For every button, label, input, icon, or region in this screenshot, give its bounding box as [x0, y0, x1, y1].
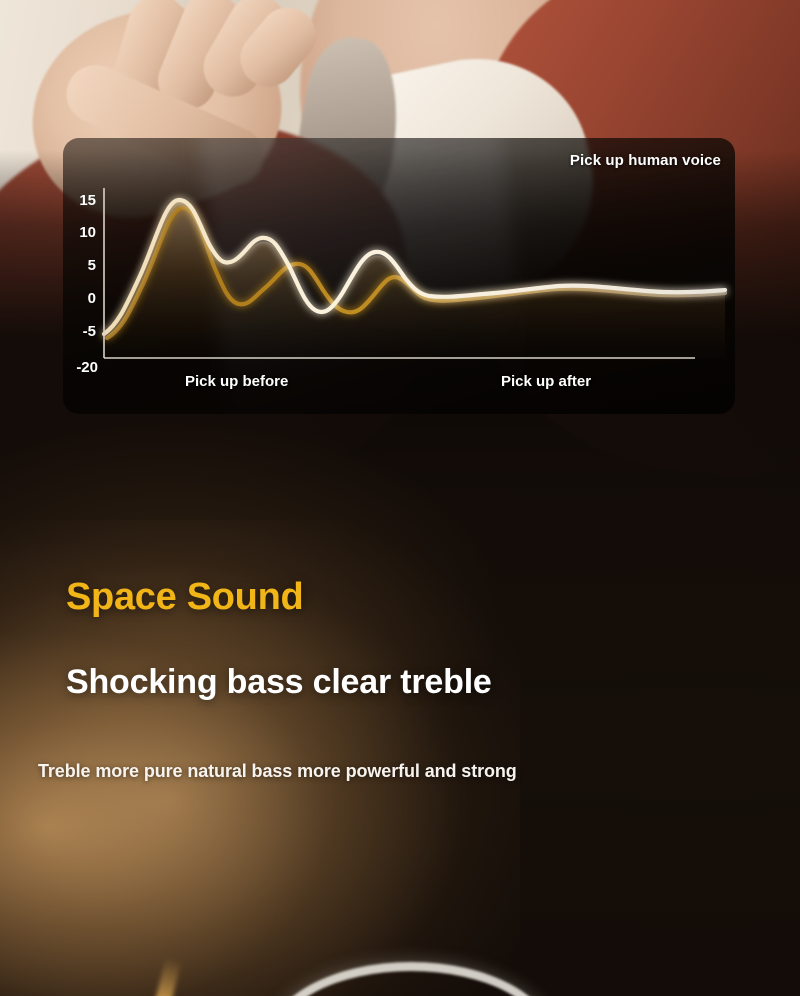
headline-main: Space Sound [66, 575, 800, 620]
headline-sub: Shocking bass clear treble [66, 662, 800, 703]
product-page: Pick up human voice [0, 0, 800, 996]
y-tick-label-minus5: -5 [83, 323, 96, 340]
y-tick-label-0: 0 [88, 290, 96, 307]
y-tick-label-10: 10 [79, 224, 96, 241]
x-category-label-before: Pick up before [185, 373, 288, 390]
waveform-plot: 15 10 5 0 -5 -20 [63, 138, 735, 414]
y-tick-label-minus20: -20 [76, 359, 98, 376]
waveform-chart-card: Pick up human voice [63, 138, 735, 414]
headline-description: Treble more pure natural bass more power… [38, 761, 800, 782]
y-tick-label-5: 5 [88, 257, 96, 274]
y-tick-label-15: 15 [79, 192, 96, 209]
x-category-label-after: Pick up after [501, 373, 591, 390]
headline-block: Space Sound Shocking bass clear treble T… [0, 575, 800, 782]
